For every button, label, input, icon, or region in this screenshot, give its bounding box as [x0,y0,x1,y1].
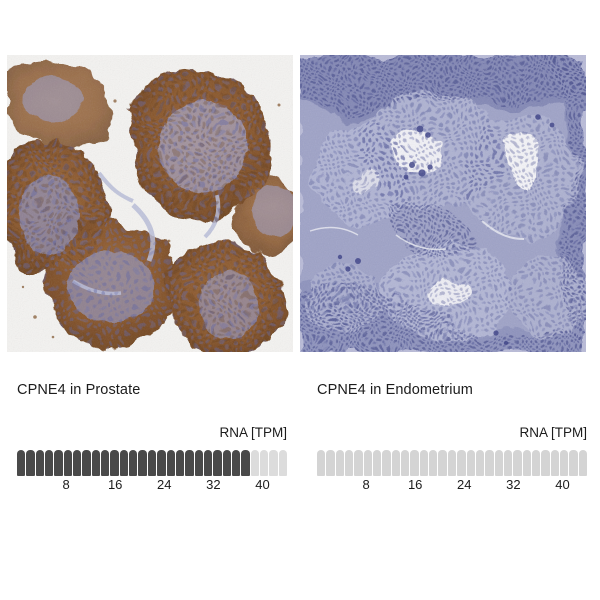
rna-segment [101,450,109,476]
rna-segment [157,450,165,476]
rna-tick-label: 8 [62,477,69,492]
rna-expression-endometrium: RNA [TPM] 816243240 [308,425,593,503]
rna-segment [429,450,437,476]
rna-segment [438,450,446,476]
rna-tick-label: 16 [408,477,422,492]
caption-prostate: CPNE4 in Prostate [17,382,140,398]
rna-segment [26,450,34,476]
rna-segment [120,450,128,476]
rna-segment [279,450,287,476]
rna-segment [260,450,268,476]
figure-root: CPNE4 in Prostate CPNE4 in Endometrium R… [0,0,600,600]
rna-segment [185,450,193,476]
rna-segment [213,450,221,476]
rna-bar-endometrium[interactable] [317,450,587,476]
rna-segment [467,450,475,476]
rna-ticks-prostate: 816243240 [17,477,287,497]
rna-segment [345,450,353,476]
rna-segment [551,450,559,476]
rna-segment [138,450,146,476]
rna-segment [392,450,400,476]
rna-segment [36,450,44,476]
rna-segment [176,450,184,476]
caption-endometrium: CPNE4 in Endometrium [317,382,473,398]
rna-segment [504,450,512,476]
rna-segment [569,450,577,476]
rna-segment [251,450,259,476]
rna-ticks-endometrium: 816243240 [317,477,587,497]
rna-segment [532,450,540,476]
rna-tick-label: 8 [362,477,369,492]
micrograph-endometrium-image [300,55,586,352]
rna-tick-label: 16 [108,477,122,492]
rna-segment [167,450,175,476]
rna-segment [382,450,390,476]
rna-tick-label: 32 [506,477,520,492]
rna-segment [269,450,277,476]
rna-segment [223,450,231,476]
rna-expression-prostate: RNA [TPM] 816243240 [8,425,293,503]
rna-segment [17,450,25,476]
rna-segment [54,450,62,476]
micrograph-prostate-image [7,55,293,352]
rna-tick-label: 24 [457,477,471,492]
rna-axis-title-endometrium: RNA [TPM] [519,425,587,440]
rna-segment [204,450,212,476]
rna-tick-label: 24 [157,477,171,492]
rna-segment [241,450,249,476]
rna-segment [476,450,484,476]
rna-segment [448,450,456,476]
rna-segment [64,450,72,476]
rna-segment [73,450,81,476]
rna-bar-prostate[interactable] [17,450,287,476]
rna-segment [364,450,372,476]
rna-segment [129,450,137,476]
rna-segment [560,450,568,476]
rna-segment [410,450,418,476]
rna-segment [232,450,240,476]
rna-segment [457,450,465,476]
rna-segment [110,450,118,476]
rna-segment [92,450,100,476]
rna-segment [485,450,493,476]
rna-segment [317,450,325,476]
rna-segment [45,450,53,476]
rna-segment [401,450,409,476]
rna-segment [148,450,156,476]
rna-axis-title-prostate: RNA [TPM] [219,425,287,440]
micrograph-prostate[interactable] [7,55,293,352]
micrograph-endometrium[interactable] [300,55,586,352]
rna-segment [326,450,334,476]
rna-segment [523,450,531,476]
rna-tick-label: 40 [255,477,269,492]
rna-segment [579,450,587,476]
rna-segment [541,450,549,476]
rna-tick-label: 40 [555,477,569,492]
rna-tick-label: 32 [206,477,220,492]
rna-segment [336,450,344,476]
rna-segment [82,450,90,476]
rna-segment [195,450,203,476]
rna-segment [513,450,521,476]
rna-segment [354,450,362,476]
rna-segment [373,450,381,476]
rna-segment [495,450,503,476]
rna-segment [420,450,428,476]
